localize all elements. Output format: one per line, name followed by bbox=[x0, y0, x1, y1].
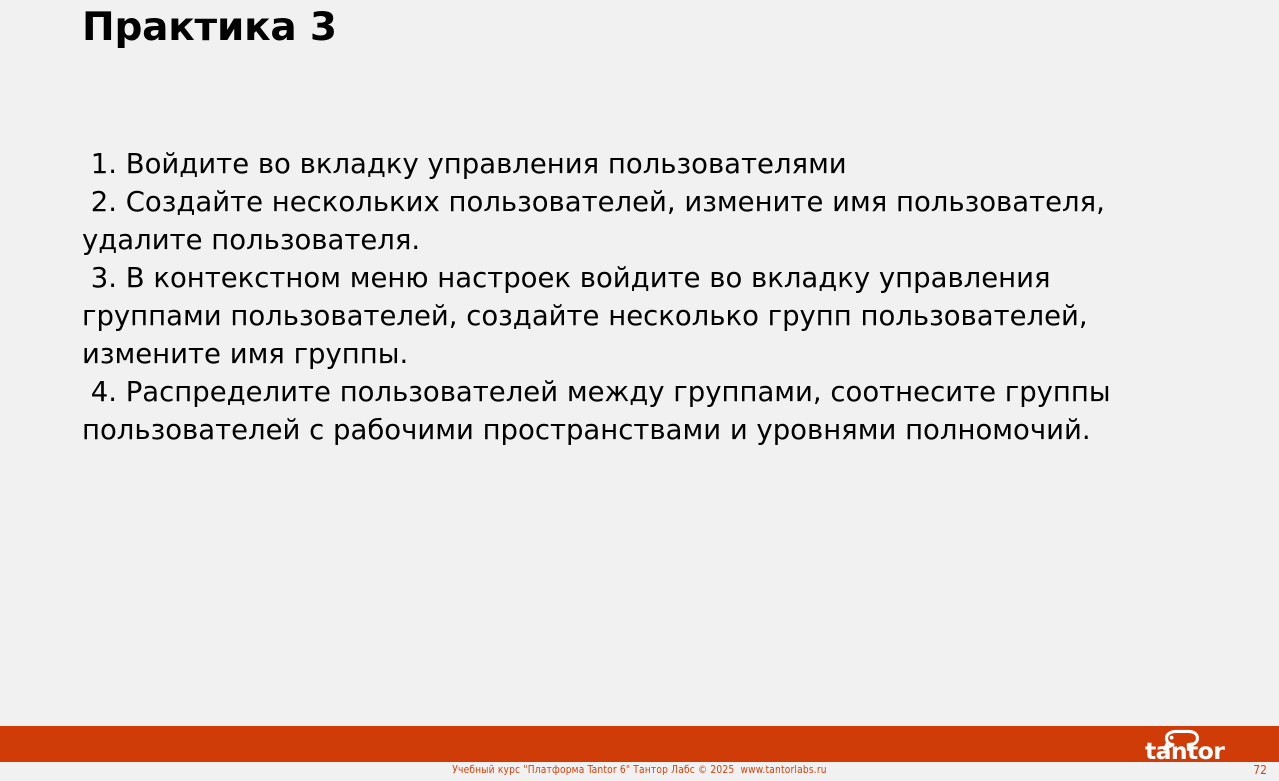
page-number: 72 bbox=[1253, 763, 1267, 777]
task-line: 4. Распределите пользователей между груп… bbox=[82, 373, 1202, 411]
task-line: 3. В контекстном меню настроек войдите в… bbox=[82, 259, 1202, 297]
task-line: пользователей с рабочими пространствами … bbox=[82, 411, 1202, 449]
tantor-logo: tantor bbox=[1144, 726, 1256, 762]
task-line: 2. Создайте нескольких пользователей, из… bbox=[82, 183, 1202, 221]
task-line: удалите пользователя. bbox=[82, 221, 1202, 259]
page-title: Практика 3 bbox=[82, 6, 337, 50]
task-line: 1. Войдите во вкладку управления пользов… bbox=[82, 145, 1202, 183]
task-line: измените имя группы. bbox=[82, 335, 1202, 373]
footer-caption: Учебный курс "Платформа Tantor 6" Тантор… bbox=[51, 763, 1228, 776]
task-line: группами пользователей, создайте несколь… bbox=[82, 297, 1202, 335]
slide: Практика 3 1. Войдите во вкладку управле… bbox=[0, 0, 1279, 781]
tantor-wordmark: tantor bbox=[1145, 737, 1225, 762]
footer-accent-bar bbox=[0, 726, 1279, 762]
practice-task-list: 1. Войдите во вкладку управления пользов… bbox=[82, 145, 1202, 449]
